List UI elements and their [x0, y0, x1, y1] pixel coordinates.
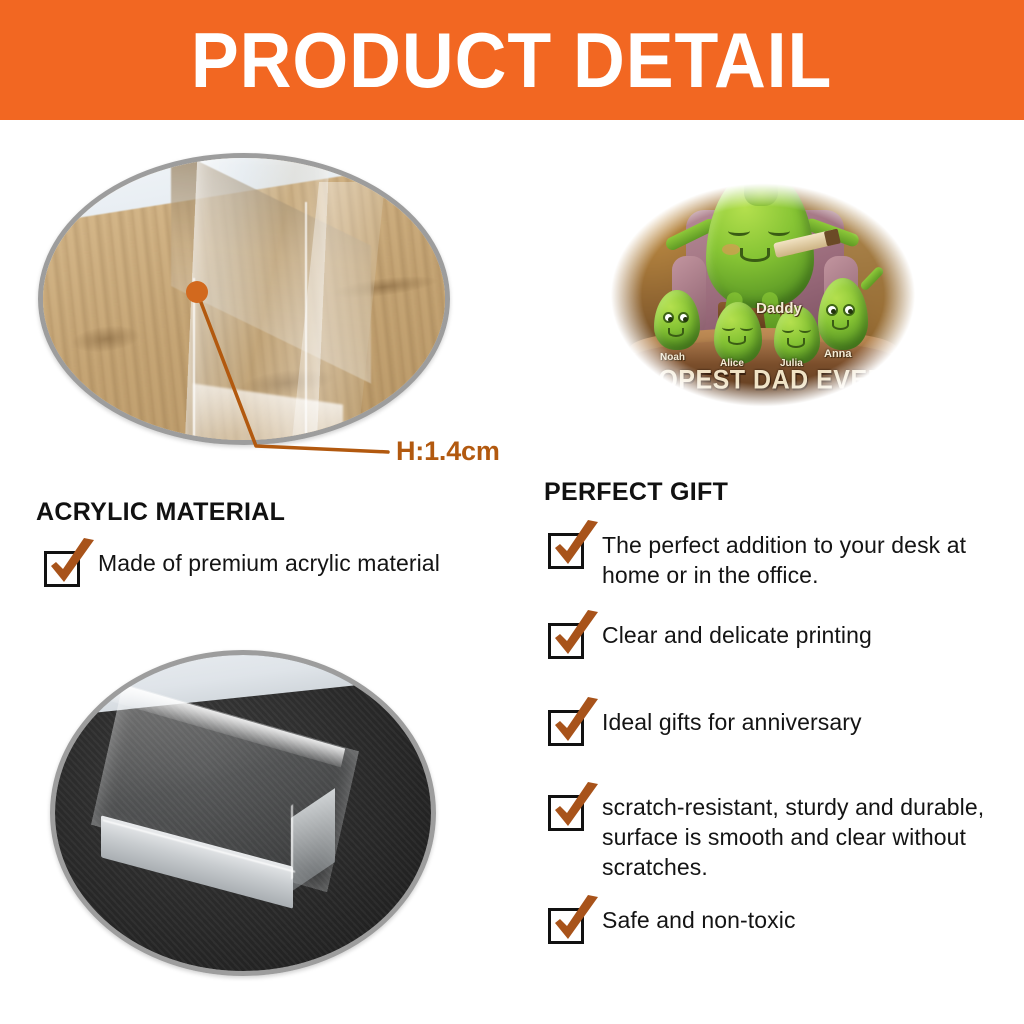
- acrylic-edge-photo: [38, 153, 450, 445]
- checkbox-icon: [548, 533, 584, 569]
- noah-smile: [668, 328, 684, 337]
- alice-smile: [728, 336, 746, 345]
- acrylic-edge-highlight: [193, 278, 195, 445]
- product-detail-page: PRODUCT DETAIL H:1.4cm: [0, 0, 1024, 1024]
- anna-eye-left: [826, 304, 838, 316]
- name-label-daddy: Daddy: [756, 300, 802, 317]
- page-title: PRODUCT DETAIL: [191, 21, 832, 99]
- noah-eye-right: [678, 312, 689, 323]
- name-label-noah: Noah: [660, 352, 685, 363]
- feature-item-gift-0: The perfect addition to your desk at hom…: [548, 530, 998, 590]
- feature-text: Safe and non-toxic: [602, 905, 796, 935]
- joint-tip: [824, 229, 841, 247]
- feature-text: Made of premium acrylic material: [98, 548, 440, 578]
- daddy-cheek-left: [722, 244, 740, 255]
- acrylic-edge-highlight: [305, 202, 307, 445]
- daddy-eye-right: [768, 226, 790, 236]
- julia-eye-right: [799, 326, 811, 333]
- feature-item-gift-1: Clear and delicate printing: [548, 620, 998, 659]
- daddy-smile: [740, 248, 770, 262]
- feature-item-gift-4: Safe and non-toxic: [548, 905, 998, 944]
- anna-eye-right: [843, 304, 855, 316]
- checkbox-icon: [548, 908, 584, 944]
- feature-item-gift-2: Ideal gifts for anniversary: [548, 707, 998, 746]
- julia-smile: [787, 338, 805, 348]
- acrylic-block-photo: [50, 650, 436, 976]
- dimension-callout-dot: [186, 281, 208, 303]
- feature-text: Ideal gifts for anniversary: [602, 707, 862, 737]
- checkbox-icon: [548, 795, 584, 831]
- section-heading-perfect-gift: PERFECT GIFT: [544, 478, 728, 507]
- alice-eye-left: [722, 324, 735, 331]
- product-photo: Daddy Noah Alice Julia Anna DOPEST DAD E…: [568, 152, 958, 438]
- checkbox-icon: [44, 551, 80, 587]
- feature-text: The perfect addition to your desk at hom…: [602, 530, 998, 590]
- feature-text: Clear and delicate printing: [602, 620, 872, 650]
- checkbox-icon: [548, 710, 584, 746]
- feature-item-acrylic-0: Made of premium acrylic material: [44, 548, 514, 587]
- section-heading-acrylic-material: ACRYLIC MATERIAL: [36, 498, 285, 527]
- julia-eye-left: [782, 326, 794, 333]
- name-label-anna: Anna: [824, 348, 852, 360]
- wood-table-scene: [43, 158, 445, 440]
- dimension-label: H:1.4cm: [396, 436, 500, 467]
- noah-eye-left: [663, 312, 674, 323]
- alice-eye-right: [740, 324, 753, 331]
- checkbox-icon: [548, 623, 584, 659]
- feature-item-gift-3: scratch-resistant, sturdy and durable, s…: [548, 792, 1000, 882]
- feature-text: scratch-resistant, sturdy and durable, s…: [602, 792, 1000, 882]
- daddy-eye-left: [728, 226, 750, 236]
- base-engraved-text: DOPEST DAD EVER: [630, 365, 896, 396]
- block-edge-highlight: [291, 804, 293, 879]
- page-header-banner: PRODUCT DETAIL: [0, 0, 1024, 120]
- anna-smile: [832, 320, 849, 330]
